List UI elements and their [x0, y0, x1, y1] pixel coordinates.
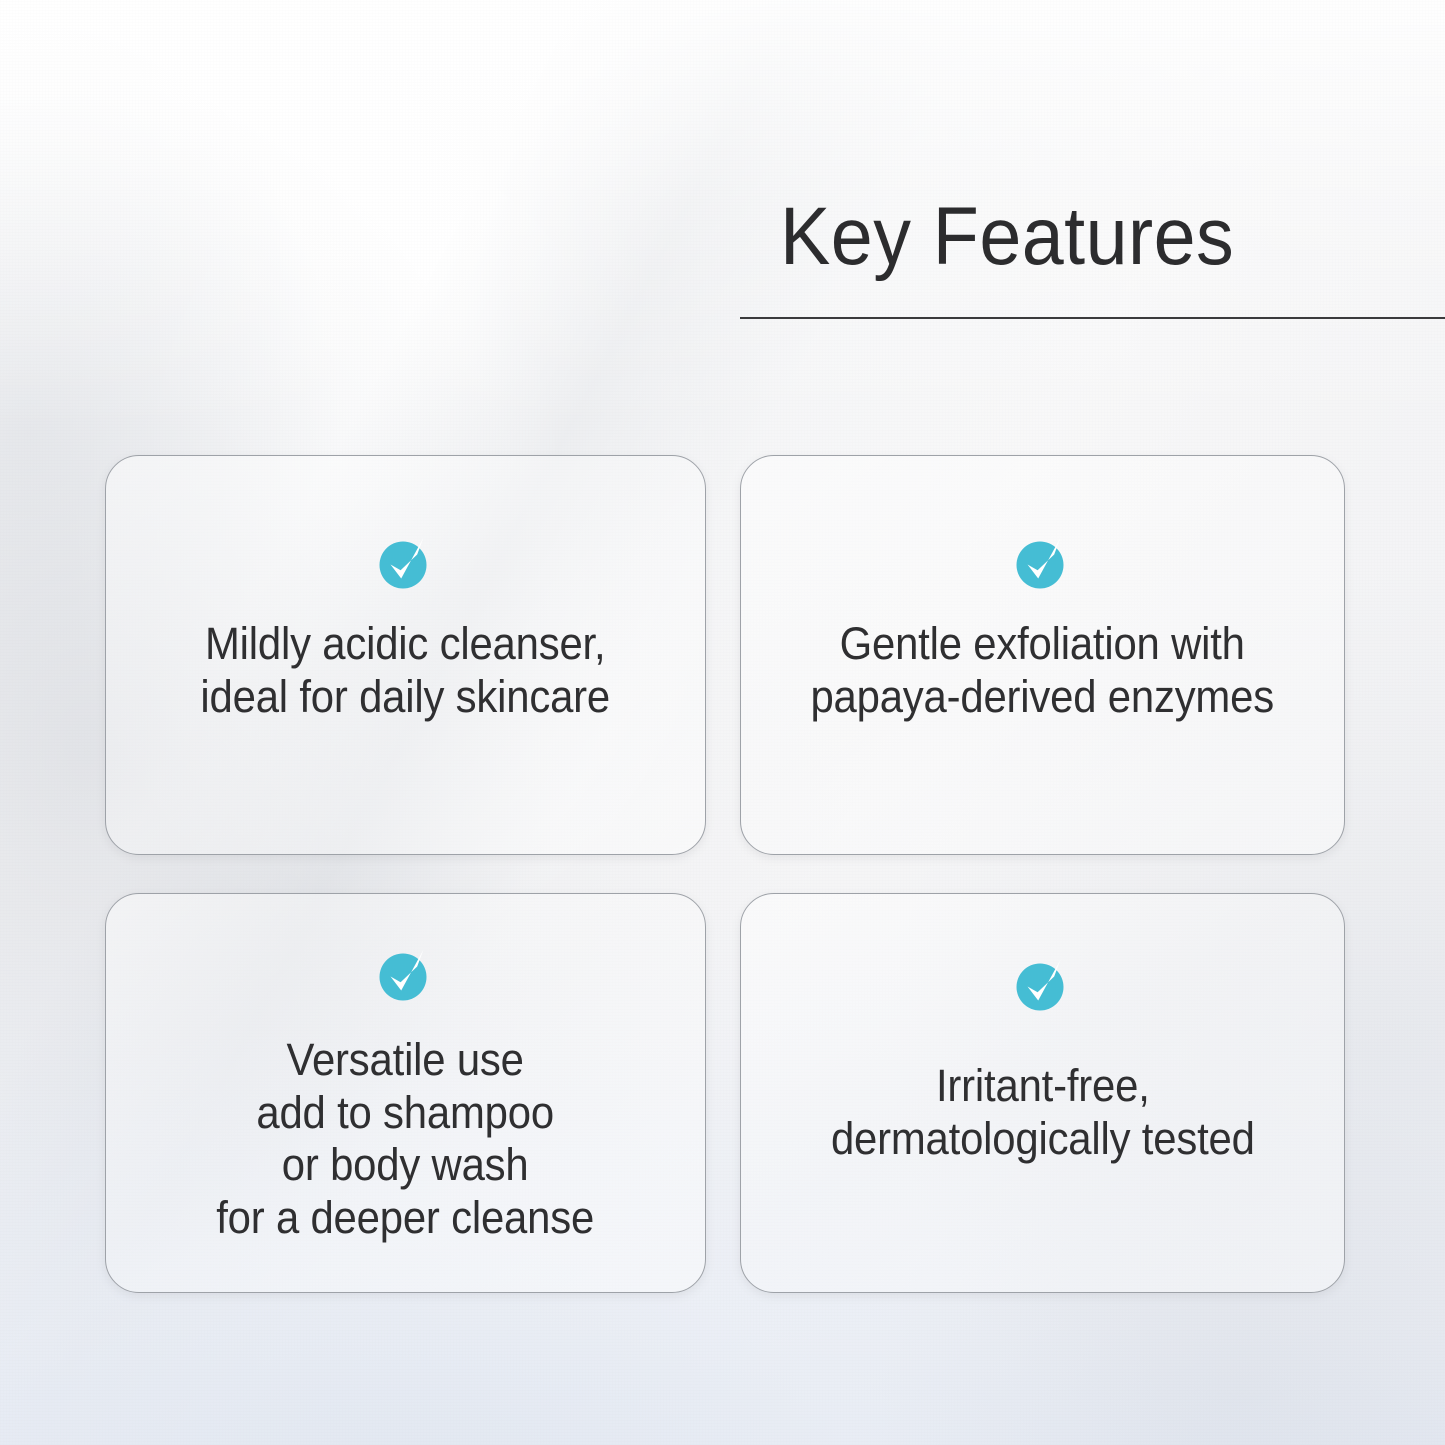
feature-card: Gentle exfoliation with papaya-derived e… [740, 455, 1345, 855]
check-circle-icon [373, 946, 439, 1006]
key-features-panel: Key Features Mildly acidic cleanser, ide… [0, 0, 1445, 1445]
feature-card: Irritant-free, dermatologically tested [740, 893, 1345, 1293]
feature-card: Mildly acidic cleanser, ideal for daily … [105, 455, 706, 855]
check-circle-icon [1010, 534, 1076, 594]
feature-card-text: Gentle exfoliation with papaya-derived e… [811, 618, 1275, 723]
check-circle-icon [373, 534, 439, 594]
feature-card: Versatile use add to shampoo or body was… [105, 893, 706, 1293]
feature-card-text: Mildly acidic cleanser, ideal for daily … [201, 618, 611, 723]
title-divider [740, 317, 1445, 319]
page-title: Key Features [780, 196, 1234, 278]
feature-card-text: Irritant-free, dermatologically tested [831, 1060, 1255, 1165]
feature-card-text: Versatile use add to shampoo or body was… [217, 1034, 595, 1245]
check-circle-icon [1010, 956, 1076, 1016]
